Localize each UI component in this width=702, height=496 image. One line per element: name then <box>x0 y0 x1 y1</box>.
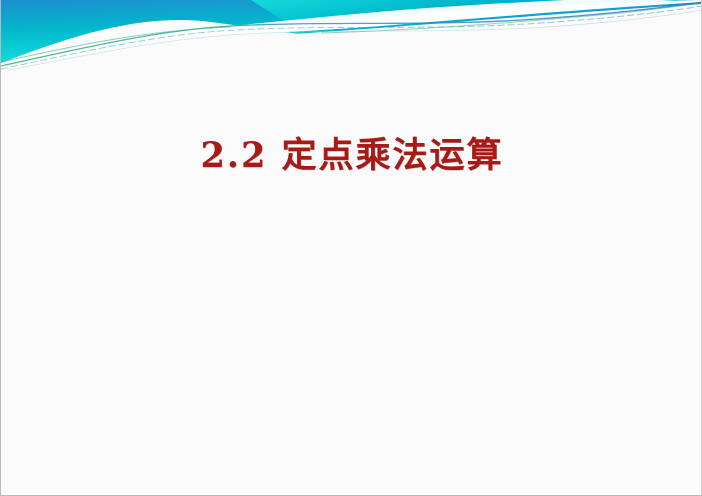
title-block: 2.2 定点乘法运算 <box>1 134 702 178</box>
banner-teal-shape <box>1 0 702 63</box>
page-title: 2.2 定点乘法运算 <box>200 134 503 178</box>
banner-white-ribbon <box>1 0 702 86</box>
presentation-slide: 2.2 定点乘法运算 <box>0 0 702 496</box>
slide-content-area <box>1 215 702 490</box>
teal-wave-banner <box>1 0 702 86</box>
banner-accent-lines <box>1 2 702 70</box>
